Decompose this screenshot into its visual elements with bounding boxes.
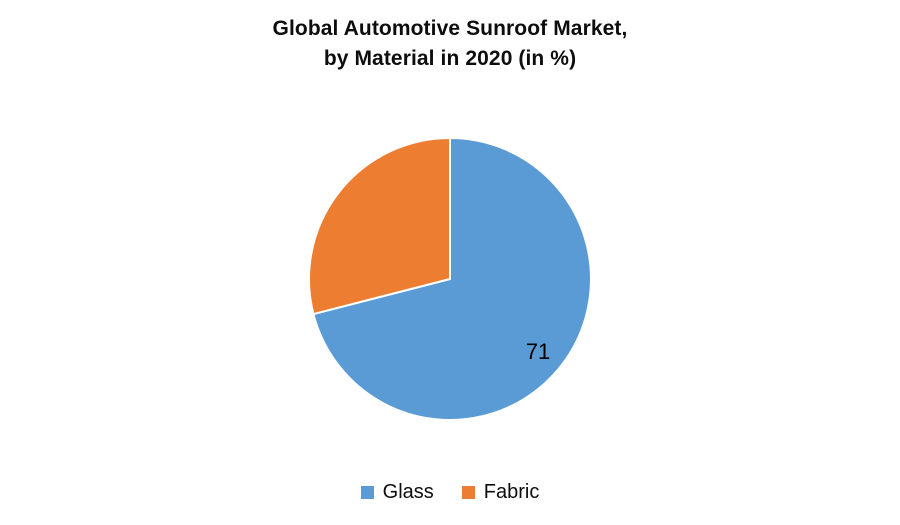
legend-swatch-glass: [361, 486, 374, 499]
chart-title-line-1: Global Automotive Sunroof Market,: [0, 14, 900, 44]
chart-legend: Glass Fabric: [0, 478, 900, 506]
legend-item-glass[interactable]: Glass: [361, 480, 434, 504]
chart-title-line-2: by Material in 2020 (in %): [0, 44, 900, 74]
legend-item-fabric[interactable]: Fabric: [462, 480, 540, 504]
legend-label-fabric: Fabric: [484, 480, 540, 504]
legend-label-glass: Glass: [383, 480, 434, 504]
data-label-glass: 71: [513, 338, 563, 366]
legend-swatch-fabric: [462, 486, 475, 499]
chart-title: Global Automotive Sunroof Market, by Mat…: [0, 14, 900, 74]
pie-plot-area: [309, 138, 591, 420]
pie-svg: [309, 138, 591, 420]
pie-chart-figure: Global Automotive Sunroof Market, by Mat…: [0, 0, 900, 525]
pie-slices: [309, 138, 591, 420]
